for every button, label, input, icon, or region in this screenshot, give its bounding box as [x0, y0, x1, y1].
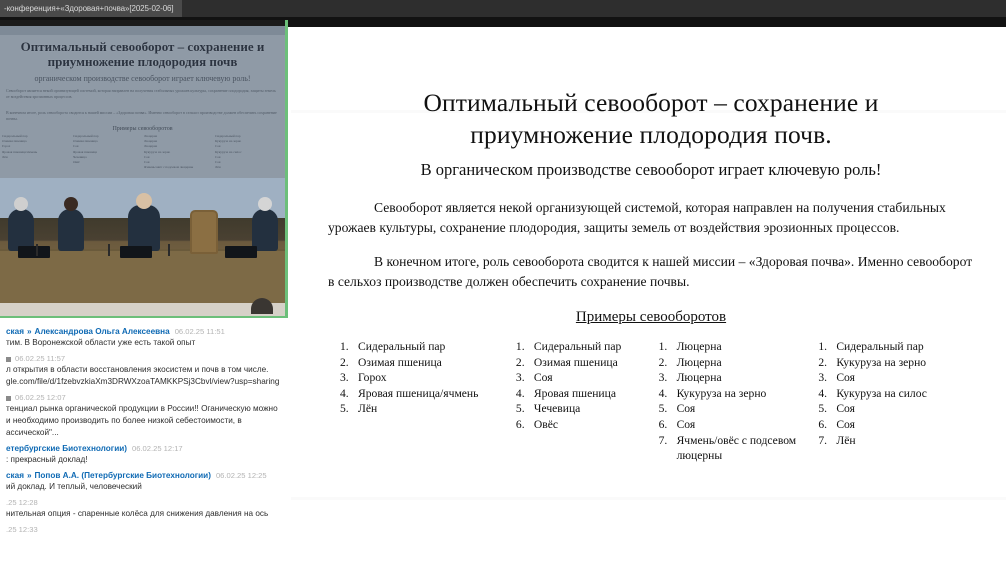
crop-rotation-column-3: 1.Люцерна 2.Люцерна 3.Люцерна 4.Кукуруза…	[659, 339, 819, 464]
list-item-number: 2.	[340, 355, 358, 371]
list-item: 4.Яровая пшеница/ячмень	[340, 386, 516, 402]
laptop-3	[225, 246, 257, 258]
chat-timestamp: 06.02.25 12:17	[132, 444, 183, 453]
list-item-text: Кукуруза на зерно	[836, 355, 980, 371]
list-item-text: Сидеральный пар	[836, 339, 980, 355]
chat-message-body: ий доклад. И теплый, человеческий	[6, 481, 280, 493]
list-item: 5.Лён	[340, 401, 516, 417]
chat-recipient: Александрова Ольга Алексеевна	[35, 327, 170, 336]
panelist-3-speaker	[128, 205, 160, 251]
list-item-number: 4.	[818, 386, 836, 402]
list-item: 1.Сидеральный пар	[340, 339, 516, 355]
chat-message-header: ская»Попов А.А. (Петербургские Биотехнол…	[6, 470, 280, 481]
list-item-text: Люцерна	[677, 370, 819, 386]
list-item: 4.Кукуруза на зерно	[659, 386, 819, 402]
list-item-number: 4.	[659, 386, 677, 402]
list-item-number: 2.	[659, 355, 677, 371]
crop-rotation-column-1: 1.Сидеральный пар 2.Озимая пшеница 3.Гор…	[340, 339, 516, 417]
chat-message-list[interactable]: ская»Александрова Ольга Алексеевна06.02.…	[0, 320, 288, 567]
list-item: 5.Чечевица	[516, 401, 659, 417]
list-item-number: 1.	[516, 339, 534, 355]
list-item-number: 3.	[516, 370, 534, 386]
list-item-number: 6.	[516, 417, 534, 433]
list-item-text: Кукуруза на зерно	[677, 386, 819, 402]
panelist-1	[8, 209, 34, 251]
list-item: 3.Соя	[516, 370, 659, 386]
list-item: 2.Кукуруза на зерно	[818, 355, 980, 371]
preview-title-line-1: Оптимальный севооборот – сохранение и	[0, 39, 285, 54]
title-bar-empty-area	[182, 0, 1006, 17]
chat-avatar-icon	[6, 396, 11, 401]
preview-paragraph-2: В конечном итоге, роль севооборота своди…	[6, 110, 279, 122]
preview-columns: Сидеральный пар Озимая пшеница Горох Яро…	[0, 134, 285, 170]
list-item-text: Лён	[836, 433, 980, 449]
chat-message-body: нительная опция - спаренные колёса для с…	[6, 508, 280, 520]
chat-message-header: .25 12:28	[6, 497, 280, 508]
preview-slide-title: Оптимальный севооборот – сохранение и пр…	[0, 39, 285, 69]
slide-examples-heading: Примеры севооборотов	[314, 307, 988, 327]
chat-author: ская	[6, 327, 24, 336]
list-item-number: 3.	[818, 370, 836, 386]
list-item: 6.Соя	[659, 417, 819, 433]
chat-message-link[interactable]: gle.com/file/d/1fzebvzkiaXm3DRWXzoaTAMKK…	[6, 376, 280, 388]
chat-timestamp: 06.02.25 12:07	[15, 393, 66, 402]
preview-slide-subtitle: органическом производстве севооборот игр…	[0, 74, 285, 84]
panelist-2	[58, 209, 84, 251]
chat-timestamp: 06.02.25 11:51	[175, 327, 225, 336]
microphone-3	[168, 244, 170, 256]
list-item-text: Ячмень/овёс с подсевом	[677, 433, 819, 449]
list-item-number: 4.	[516, 386, 534, 402]
application-window: -конференция+«Здоровая+почва»[2025-02-06…	[0, 0, 1006, 567]
room-floor	[0, 303, 285, 316]
empty-chair	[190, 210, 218, 254]
list-item-text: Соя	[836, 417, 980, 433]
list-item-text: Соя	[677, 401, 819, 417]
list-item: 2.Люцерна	[659, 355, 819, 371]
list-item-text: Горох	[358, 370, 516, 386]
list-item-text: Чечевица	[534, 401, 659, 417]
chat-message: .25 12:33	[0, 522, 288, 537]
crop-rotation-columns: 1.Сидеральный пар 2.Озимая пшеница 3.Гор…	[314, 339, 988, 464]
list-item-number: 3.	[340, 370, 358, 386]
screen-share-preview: Оптимальный севооборот – сохранение и пр…	[0, 26, 285, 178]
list-item: 3.Люцерна	[659, 370, 819, 386]
slide-examples-heading-text: Примеры севооборотов	[576, 309, 726, 325]
chat-message: .25 12:28 нительная опция - спаренные ко…	[0, 495, 288, 522]
list-item: 1.Сидеральный пар	[516, 339, 659, 355]
preview-examples-heading: Примеры севооборотов	[0, 126, 285, 132]
list-item: 1.Сидеральный пар	[818, 339, 980, 355]
list-item-number: 1.	[818, 339, 836, 355]
chat-message-body: л открытия в области восстановления экос…	[6, 364, 280, 376]
chat-message: ская»Попов А.А. (Петербургские Биотехнол…	[0, 468, 288, 495]
webcam-conference-feed	[0, 178, 285, 316]
chat-message-header: 06.02.25 12:07	[6, 392, 280, 403]
chat-recipient: Попов А.А. (Петербургские Биотехнологии)	[35, 471, 211, 480]
list-item-number: 6.	[659, 417, 677, 433]
chat-recipient: етербургские Биотехнологии)	[6, 444, 127, 453]
preview-column-2: Сидеральный пар Озимая пшеница Соя Ярова…	[73, 134, 141, 170]
microphone-1	[36, 244, 38, 256]
list-item-text: Люцерна	[677, 355, 819, 371]
browser-tab[interactable]: -конференция+«Здоровая+почва»[2025-02-06…	[0, 0, 182, 17]
preview-column-3: Люцерна Люцерна Люцерна Кукуруза на зерн…	[144, 134, 212, 170]
laptop-1	[18, 246, 50, 258]
presentation-slide-viewer[interactable]: Оптимальный севооборот – сохранение и пр…	[291, 27, 1006, 567]
list-item-number: 7.	[659, 433, 677, 449]
browser-tab-title: -конференция+«Здоровая+почва»[2025-02-06…	[4, 0, 174, 17]
list-item-number: 2.	[818, 355, 836, 371]
list-item: 3.Соя	[818, 370, 980, 386]
audience-head	[251, 298, 273, 314]
list-item: 4.Кукуруза на силос	[818, 386, 980, 402]
chat-message-body: тим. В Воронежской области уже есть тако…	[6, 337, 280, 349]
chat-message-header: 06.02.25 11:57	[6, 353, 280, 364]
list-item-text: Сидеральный пар	[358, 339, 516, 355]
chat-message-body: : прекрасный доклад!	[6, 454, 280, 466]
list-item-number: 5.	[818, 401, 836, 417]
slide-paragraph-2: В конечном итоге, роль севооборота своди…	[328, 252, 974, 291]
list-item-text: Яровая пшеница/ячмень	[358, 386, 516, 402]
chat-message: 06.02.25 11:57 л открытия в области восс…	[0, 351, 288, 390]
list-item-number: 5.	[659, 401, 677, 417]
chat-timestamp: 06.02.25 11:57	[15, 354, 65, 363]
list-item-text: Соя	[534, 370, 659, 386]
list-item-text: Соя	[836, 401, 980, 417]
chat-timestamp: .25 12:33	[6, 525, 38, 534]
preview-column-4: Сидеральный пар Кукуруза на зерно Соя Ку…	[215, 134, 283, 170]
list-item: 7.Ячмень/овёс с подсевом	[659, 433, 819, 449]
chat-timestamp: 06.02.25 12:25	[216, 471, 267, 480]
list-item-text: Соя	[677, 417, 819, 433]
chat-arrow-icon: »	[27, 471, 32, 480]
list-item: 6.Овёс	[516, 417, 659, 433]
chat-message-header: етербургские Биотехнологии)06.02.25 12:1…	[6, 443, 280, 454]
video-player-frame[interactable]: Оптимальный севооборот – сохранение и пр…	[0, 20, 288, 318]
list-item-text: Яровая пшеница	[534, 386, 659, 402]
preview-toolbar	[0, 26, 285, 35]
list-item-number: 3.	[659, 370, 677, 386]
list-item-continuation: люцерны	[659, 448, 819, 464]
list-item-text: Соя	[836, 370, 980, 386]
presidium-table	[0, 251, 285, 303]
list-item: 4.Яровая пшеница	[516, 386, 659, 402]
list-item: 5.Соя	[659, 401, 819, 417]
background-band-1	[291, 110, 1006, 113]
list-item-number: 7.	[818, 433, 836, 449]
crop-rotation-column-4: 1.Сидеральный пар 2.Кукуруза на зерно 3.…	[818, 339, 980, 448]
list-item-text: Сидеральный пар	[534, 339, 659, 355]
list-item: 3.Горох	[340, 370, 516, 386]
panelist-4	[252, 209, 278, 251]
slide-paragraph-1: Севооборот является некой организующей с…	[328, 198, 974, 237]
list-item: 2.Озимая пшеница	[340, 355, 516, 371]
chat-author: ская	[6, 471, 24, 480]
left-panel: Оптимальный севооборот – сохранение и пр…	[0, 20, 288, 567]
browser-title-bar: -конференция+«Здоровая+почва»[2025-02-06…	[0, 0, 1006, 17]
list-item-text: Озимая пшеница	[358, 355, 516, 371]
slide-subtitle: В органическом производстве севооборот и…	[314, 158, 988, 182]
list-item-number: 5.	[516, 401, 534, 417]
list-item: 1.Люцерна	[659, 339, 819, 355]
chat-timestamp: .25 12:28	[6, 498, 38, 507]
list-item-text: Овёс	[534, 417, 659, 433]
list-item: 5.Соя	[818, 401, 980, 417]
list-item-number: 2.	[516, 355, 534, 371]
slide-title-line-2: приумножение плодородия почв.	[348, 119, 954, 151]
list-item-text: Люцерна	[677, 339, 819, 355]
list-item-number: 1.	[340, 339, 358, 355]
list-item-number: 6.	[818, 417, 836, 433]
list-item-text: Лён	[358, 401, 516, 417]
preview-column-1: Сидеральный пар Озимая пшеница Горох Яро…	[2, 134, 70, 170]
slide-title-line-1: Оптимальный севооборот – сохранение и	[348, 87, 954, 119]
chat-message: ская»Александрова Ольга Алексеевна06.02.…	[0, 324, 288, 351]
chat-message-header: .25 12:33	[6, 524, 280, 535]
chat-avatar-icon	[6, 357, 11, 362]
list-item-number: 4.	[340, 386, 358, 402]
list-item-number: 1.	[659, 339, 677, 355]
slide-title: Оптимальный севооборот – сохранение и пр…	[348, 87, 954, 151]
chat-message: етербургские Биотехнологии)06.02.25 12:1…	[0, 441, 288, 468]
list-item-text: Озимая пшеница	[534, 355, 659, 371]
chat-arrow-icon: »	[27, 327, 32, 336]
microphone-2	[108, 244, 110, 256]
list-item: 6.Соя	[818, 417, 980, 433]
background-band-2	[291, 497, 1006, 500]
chat-message-body: тенциал рынка органической продукции в Р…	[6, 403, 280, 439]
chat-message-header: ская»Александрова Ольга Алексеевна06.02.…	[6, 326, 280, 337]
chat-message: 06.02.25 12:07 тенциал рынка органическо…	[0, 390, 288, 441]
list-item-number: 5.	[340, 401, 358, 417]
preview-paragraph-1: Севооборот является некой организующей с…	[6, 88, 279, 100]
crop-rotation-column-2: 1.Сидеральный пар 2.Озимая пшеница 3.Соя…	[516, 339, 659, 433]
list-item: 2.Озимая пшеница	[516, 355, 659, 371]
laptop-2	[120, 246, 152, 258]
list-item-text: Кукуруза на силос	[836, 386, 980, 402]
list-item: 7.Лён	[818, 433, 980, 449]
preview-title-line-2: приумножение плодородия почв	[0, 54, 285, 69]
presentation-slide: Оптимальный севооборот – сохранение и пр…	[296, 27, 1006, 567]
